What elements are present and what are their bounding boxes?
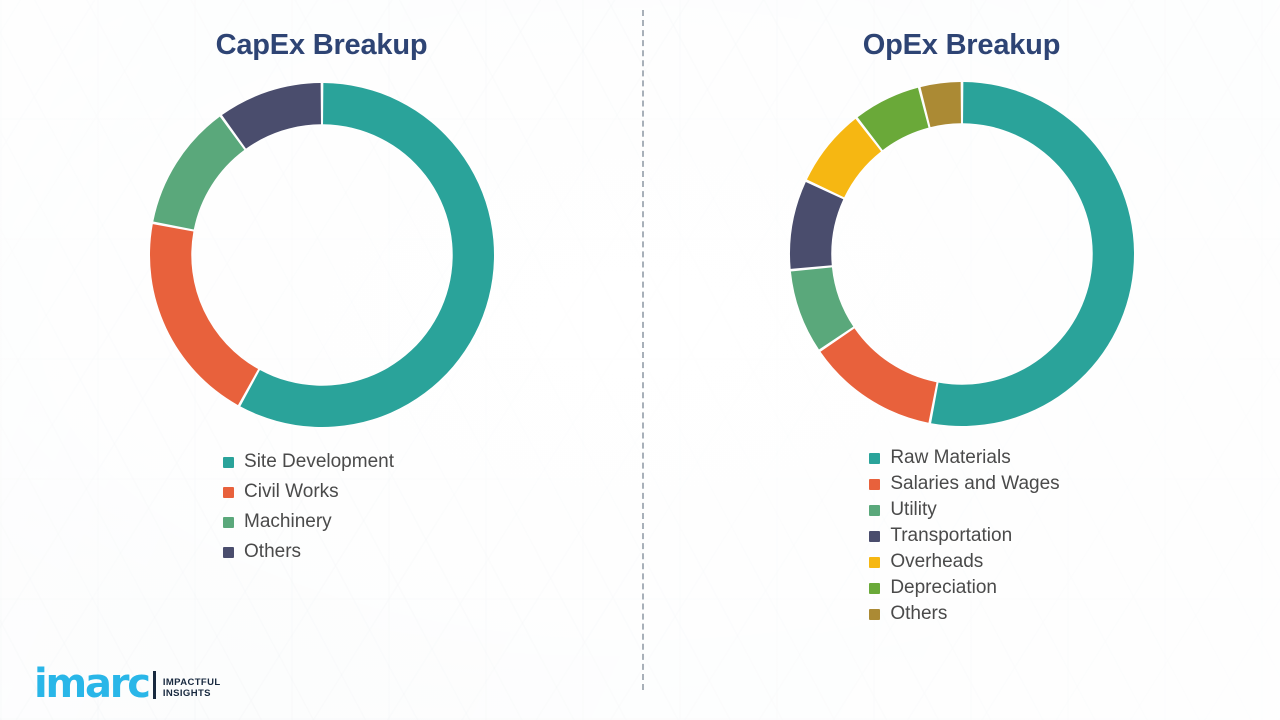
legend-item-label: Raw Materials bbox=[890, 448, 1010, 468]
capex-legend: Site DevelopmentCivil WorksMachineryOthe… bbox=[223, 452, 394, 572]
legend-color-swatch bbox=[869, 557, 880, 568]
opex-legend-item[interactable]: Utility bbox=[869, 500, 1059, 520]
capex-donut-chart bbox=[142, 75, 502, 435]
capex-legend-item[interactable]: Others bbox=[223, 542, 394, 562]
opex-chart-title: OpEx Breakup bbox=[863, 29, 1060, 62]
capex-donut-svg bbox=[142, 75, 502, 435]
legend-color-swatch bbox=[869, 505, 880, 516]
opex-legend-item[interactable]: Transportation bbox=[869, 526, 1059, 546]
donut-slice bbox=[240, 83, 494, 427]
legend-item-label: Site Development bbox=[244, 452, 394, 472]
donut-slice bbox=[221, 83, 320, 149]
legend-item-label: Overheads bbox=[890, 552, 983, 572]
capex-legend-item[interactable]: Site Development bbox=[223, 452, 394, 472]
opex-legend-item[interactable]: Salaries and Wages bbox=[869, 474, 1059, 494]
legend-color-swatch bbox=[869, 453, 880, 464]
capex-legend-item[interactable]: Machinery bbox=[223, 512, 394, 532]
legend-color-swatch bbox=[869, 609, 880, 620]
opex-legend: Raw MaterialsSalaries and WagesUtilityTr… bbox=[869, 448, 1059, 630]
legend-color-swatch bbox=[869, 531, 880, 542]
opex-panel: OpEx Breakup Raw MaterialsSalaries and W… bbox=[643, 0, 1280, 720]
legend-item-label: Civil Works bbox=[244, 482, 339, 502]
legend-item-label: Depreciation bbox=[890, 578, 997, 598]
opex-legend-item[interactable]: Raw Materials bbox=[869, 448, 1059, 468]
imarc-wordmark: imarc bbox=[34, 666, 149, 702]
legend-item-label: Others bbox=[890, 604, 947, 624]
opex-legend-item[interactable]: Overheads bbox=[869, 552, 1059, 572]
legend-item-label: Others bbox=[244, 542, 301, 562]
opex-donut-svg bbox=[782, 74, 1142, 434]
donut-slice bbox=[920, 82, 960, 127]
capex-legend-item[interactable]: Civil Works bbox=[223, 482, 394, 502]
panel-divider bbox=[642, 10, 644, 690]
donut-slice bbox=[150, 224, 258, 405]
legend-color-swatch bbox=[223, 457, 234, 468]
opex-legend-item[interactable]: Depreciation bbox=[869, 578, 1059, 598]
imarc-logo: imarc IMPACTFUL INSIGHTS bbox=[34, 666, 221, 702]
capex-panel: CapEx Breakup Site DevelopmentCivil Work… bbox=[0, 0, 643, 720]
legend-color-swatch bbox=[869, 583, 880, 594]
capex-chart-title: CapEx Breakup bbox=[216, 29, 428, 62]
legend-item-label: Machinery bbox=[244, 512, 332, 532]
opex-donut-chart bbox=[782, 74, 1142, 434]
logo-tagline-line2: INSIGHTS bbox=[163, 688, 221, 699]
donut-slice bbox=[790, 182, 843, 269]
imarc-tagline: IMPACTFUL INSIGHTS bbox=[163, 677, 221, 699]
legend-item-label: Utility bbox=[890, 500, 936, 520]
legend-item-label: Salaries and Wages bbox=[890, 474, 1059, 494]
legend-color-swatch bbox=[223, 487, 234, 498]
donut-slice bbox=[931, 82, 1134, 426]
logo-tagline-line1: IMPACTFUL bbox=[163, 677, 221, 688]
logo-divider-bar bbox=[153, 671, 156, 699]
donut-slice bbox=[820, 328, 936, 422]
donut-slice bbox=[153, 117, 244, 230]
slide-content: CapEx Breakup Site DevelopmentCivil Work… bbox=[0, 0, 1280, 720]
legend-color-swatch bbox=[223, 517, 234, 528]
legend-item-label: Transportation bbox=[890, 526, 1012, 546]
legend-color-swatch bbox=[869, 479, 880, 490]
legend-color-swatch bbox=[223, 547, 234, 558]
opex-legend-item[interactable]: Others bbox=[869, 604, 1059, 624]
